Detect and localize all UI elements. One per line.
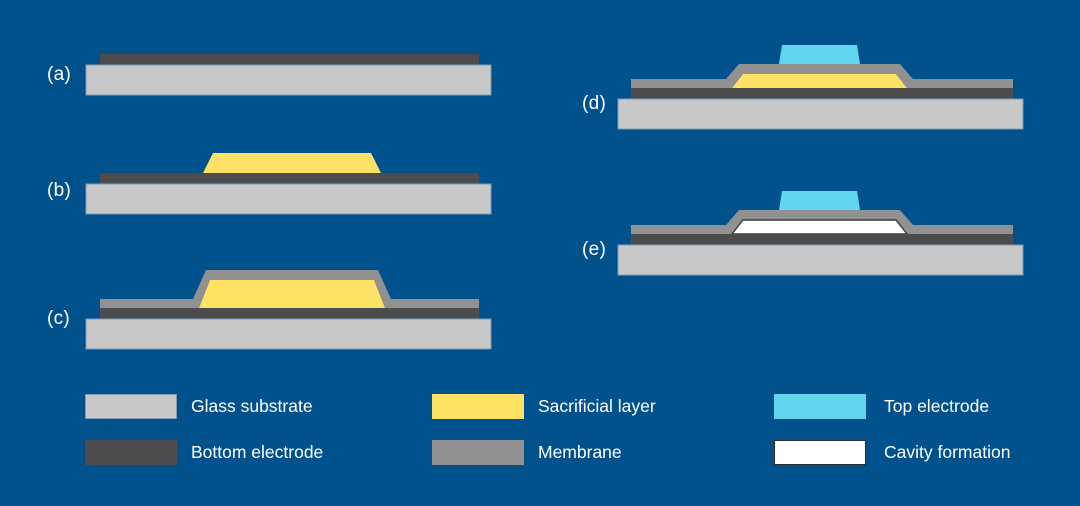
legend-label-cavity-formation: Cavity formation xyxy=(884,440,1010,465)
legend-swatch-glass-substrate xyxy=(85,394,177,419)
legend-swatch-cavity-formation xyxy=(774,440,866,465)
legend-label-glass-substrate: Glass substrate xyxy=(191,394,313,419)
legend-swatch-sacrificial-layer xyxy=(432,394,524,419)
legend-swatch-membrane xyxy=(432,440,524,465)
legend-swatch-bottom-electrode xyxy=(85,440,177,465)
legend-label-membrane: Membrane xyxy=(538,440,622,465)
figure-canvas: (a) (b) (c) (d) xyxy=(0,0,1080,506)
legend: Glass substrate Bottom electrode Sacrifi… xyxy=(0,0,1080,506)
legend-label-sacrificial-layer: Sacrificial layer xyxy=(538,394,656,419)
legend-swatch-top-electrode xyxy=(774,394,866,419)
legend-label-bottom-electrode: Bottom electrode xyxy=(191,440,323,465)
legend-label-top-electrode: Top electrode xyxy=(884,394,989,419)
